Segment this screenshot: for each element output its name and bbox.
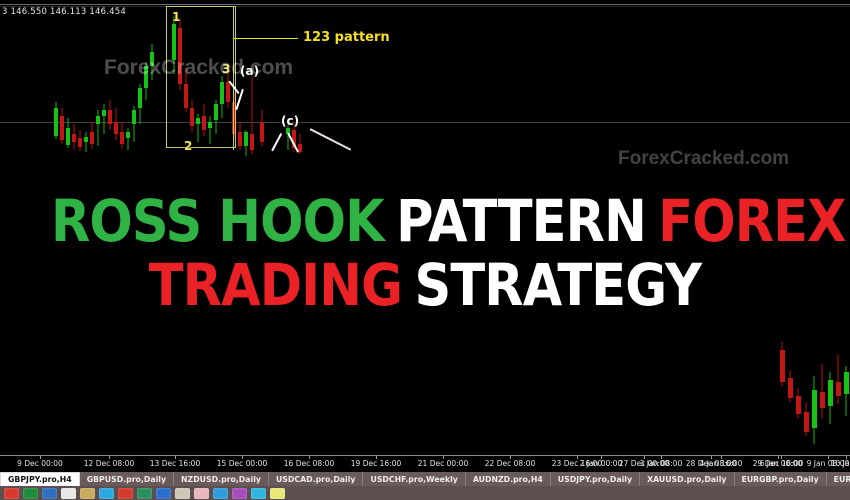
title-line-2: TRADINGSTRATEGY	[51, 256, 799, 314]
axis-tick-label: 12 Dec 08:00	[84, 459, 134, 468]
candle	[138, 84, 142, 124]
chart-tab[interactable]: EURGBP.pro,Daily	[735, 472, 827, 486]
candle-body	[260, 122, 264, 142]
media-icon[interactable]	[194, 488, 209, 499]
candle-body	[836, 382, 841, 396]
candle	[78, 130, 82, 151]
candle	[54, 102, 58, 139]
candle-body	[96, 116, 100, 124]
spreadsheet-icon[interactable]	[23, 488, 38, 499]
axis-tick-label: 19 Dec 16:00	[351, 459, 401, 468]
pattern-label: 123 pattern	[303, 30, 390, 45]
pattern-leader-line	[234, 38, 298, 39]
axis-tick-label: 10 Jan 1	[831, 459, 850, 468]
candle-body	[108, 110, 112, 124]
mail-icon[interactable]	[137, 488, 152, 499]
axis-tick-label: 4 Jan 16:00	[700, 459, 743, 468]
pdf-icon[interactable]	[118, 488, 133, 499]
candle-body	[138, 88, 142, 108]
candle	[102, 104, 106, 134]
candle	[132, 106, 136, 142]
candle-body	[126, 132, 130, 138]
candle-body	[804, 412, 809, 432]
candle	[238, 122, 242, 150]
title-line-1: ROSS HOOKPATTERNFOREX	[51, 192, 799, 250]
axis-tick-label: 3 Jan 08:00	[640, 459, 683, 468]
candle	[108, 100, 112, 130]
candle-body	[250, 134, 254, 150]
axis-tick-label: 15 Dec 00:00	[217, 459, 267, 468]
candle	[788, 370, 793, 402]
candle-body	[114, 122, 118, 134]
forex-chart-screenshot: 3 146.550 146.113 146.454 123 pattern 1 …	[0, 0, 850, 500]
candle-body	[72, 134, 76, 142]
folder-icon[interactable]	[80, 488, 95, 499]
os-taskbar[interactable]	[0, 486, 850, 500]
chart-tab[interactable]: AUDNZD.pro,H4	[466, 472, 551, 486]
candle-body	[102, 110, 106, 116]
title-word: PATTERN	[396, 187, 646, 255]
title-word: FOREX	[658, 187, 845, 255]
time-axis: 9 Dec 00:0012 Dec 08:0013 Dec 16:0015 De…	[0, 455, 850, 472]
candle	[84, 132, 88, 152]
chart-tab[interactable]: NZDUSD.pro,Daily	[174, 472, 269, 486]
chart-top-border	[0, 4, 850, 5]
chart-tab[interactable]: EURCHF.pro,Dai	[827, 472, 850, 486]
wave-label-c: (c)	[281, 114, 299, 128]
image-icon[interactable]	[232, 488, 247, 499]
record-icon[interactable]	[4, 488, 19, 499]
candle-body	[132, 110, 136, 124]
disc-icon[interactable]	[213, 488, 228, 499]
candle-body	[796, 396, 801, 414]
candle-wick	[838, 354, 839, 404]
candle-body	[780, 350, 785, 382]
candle	[114, 108, 118, 140]
candle	[60, 108, 64, 144]
candle	[836, 354, 841, 404]
chart-tab[interactable]: GBPJPY.pro,H4	[0, 472, 80, 486]
candle-body	[54, 108, 58, 136]
chart-tab[interactable]: USDCHF.pro,Weekly	[363, 472, 465, 486]
candle	[828, 372, 833, 424]
upper-price-gridline	[0, 6, 850, 7]
globe-icon[interactable]	[251, 488, 266, 499]
chart-tab[interactable]: USDCAD.pro,Daily	[269, 472, 364, 486]
quote-readout: 3 146.550 146.113 146.454	[2, 7, 126, 17]
candle	[120, 122, 124, 148]
candle-body	[238, 132, 242, 146]
candle-wick	[86, 132, 87, 152]
candle-body	[244, 132, 248, 146]
candle	[66, 118, 70, 148]
candle-body	[788, 378, 793, 398]
candle-body	[812, 390, 817, 428]
chart-tab[interactable]: GBPUSD.pro,Daily	[80, 472, 174, 486]
axis-tick-label: 9 Dec 00:00	[17, 459, 63, 468]
hook-pointer-line	[310, 128, 352, 150]
terminal4-icon[interactable]	[270, 488, 285, 499]
hook-stroke-c1	[271, 133, 282, 152]
terminal-icon[interactable]	[156, 488, 171, 499]
candle	[96, 110, 100, 146]
candle-body	[820, 392, 825, 408]
price-level-line	[0, 122, 850, 123]
candle-body	[78, 138, 82, 147]
axis-tick-label: 21 Dec 00:00	[418, 459, 468, 468]
candle	[126, 128, 130, 150]
candle	[844, 366, 849, 416]
chart-tab-strip[interactable]: GBPJPY.pro,H4GBPUSD.pro,DailyNZDUSD.pro,…	[0, 472, 850, 486]
axis-tick-label: 22 Dec 08:00	[485, 459, 535, 468]
chart-tab[interactable]: XAUUSD.pro,Daily	[640, 472, 734, 486]
cloud-icon[interactable]	[61, 488, 76, 499]
candle-body	[90, 132, 94, 144]
candle	[796, 388, 801, 418]
axis-tick-label: 16 Dec 08:00	[284, 459, 334, 468]
title-word: ROSS HOOK	[51, 187, 384, 255]
browser-icon[interactable]	[42, 488, 57, 499]
candle-body	[66, 128, 70, 145]
candle-body	[84, 137, 88, 142]
candle-body	[120, 132, 124, 144]
axis-rule	[0, 455, 850, 456]
watermark-right: ForexCracked.com	[618, 148, 789, 170]
axis-tick-label: 2 Jan 00:00	[580, 459, 623, 468]
candle-body	[844, 372, 849, 394]
chat-icon[interactable]	[99, 488, 114, 499]
candle-body	[60, 116, 64, 140]
candle	[780, 342, 785, 386]
axis-tick-label: 6 Jan 00:00	[760, 459, 803, 468]
chart-tab[interactable]: USDJPY.pro,Daily	[551, 472, 640, 486]
candle-wick	[822, 364, 823, 418]
candle	[90, 122, 94, 149]
candle	[812, 376, 817, 444]
candle-wick	[104, 104, 105, 134]
candle	[804, 402, 809, 436]
candle	[820, 364, 825, 418]
candle	[260, 110, 264, 146]
title-word: STRATEGY	[414, 251, 701, 319]
watermark-top: ForexCracked.com	[104, 56, 293, 80]
candle-body	[828, 380, 833, 406]
pivot-label-2: 2	[184, 139, 192, 153]
overlay-title: ROSS HOOKPATTERNFOREX TRADINGSTRATEGY	[0, 192, 850, 314]
axis-tick-label: 13 Dec 16:00	[150, 459, 200, 468]
pivot-label-1: 1	[172, 10, 180, 24]
candle	[250, 76, 254, 154]
candle	[72, 124, 76, 150]
title-word: TRADING	[149, 251, 402, 319]
candle	[244, 130, 248, 156]
notes-icon[interactable]	[175, 488, 190, 499]
